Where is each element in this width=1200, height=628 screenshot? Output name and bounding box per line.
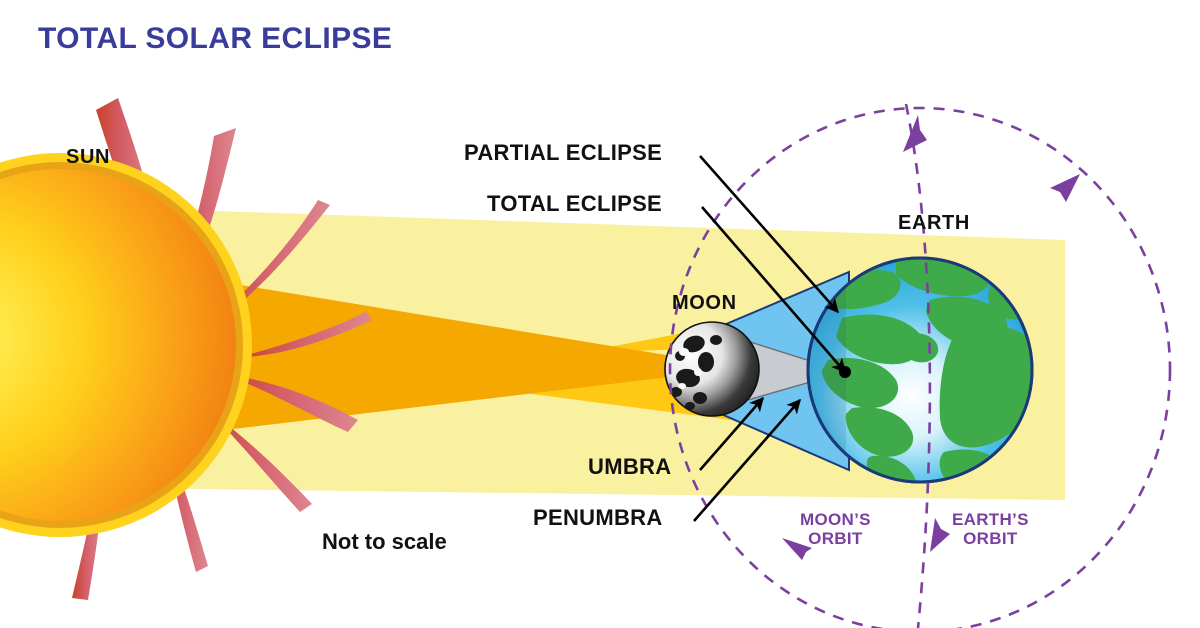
earths-orbit-label-line1: EARTH’S (952, 510, 1029, 529)
earth-label: EARTH (898, 212, 970, 235)
not-to-scale-note: Not to scale (322, 529, 447, 555)
eclipse-infographic: TOTAL SOLAR ECLIPSE SUN MOON EARTH PARTI… (0, 0, 1200, 628)
umbra-label: UMBRA (588, 454, 671, 480)
earths-orbit-arrow-upper (903, 115, 927, 152)
moons-orbit-label: MOON’S ORBIT (800, 510, 871, 548)
moons-orbit-label-line2: ORBIT (800, 529, 871, 548)
umbra-contact-point (839, 366, 851, 378)
total-eclipse-label: TOTAL ECLIPSE (487, 191, 662, 217)
moon-sphere (665, 322, 759, 416)
moon-label: MOON (672, 292, 737, 315)
sun-label: SUN (66, 146, 110, 169)
penumbra-label: PENUMBRA (533, 505, 663, 531)
moons-orbit-label-line1: MOON’S (800, 510, 871, 529)
earths-orbit-arrow-lower (930, 518, 950, 552)
earths-orbit-label-line2: ORBIT (952, 529, 1029, 548)
partial-eclipse-label: PARTIAL ECLIPSE (464, 140, 662, 166)
earths-orbit-label: EARTH’S ORBIT (952, 510, 1029, 548)
moons-orbit-arrow-top (1050, 174, 1080, 202)
page-title: TOTAL SOLAR ECLIPSE (38, 22, 392, 56)
moon-body (665, 322, 759, 416)
